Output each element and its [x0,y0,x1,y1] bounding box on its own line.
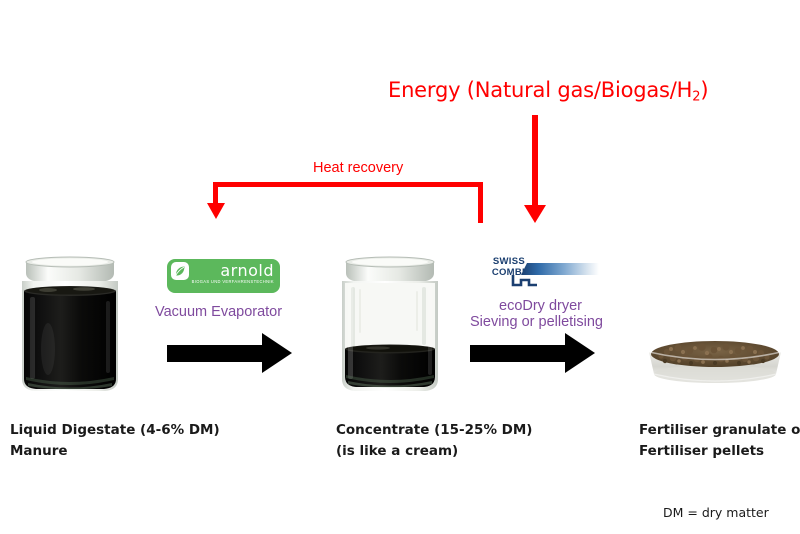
caption-1-line-2: Manure [10,441,220,462]
petri-dish-of-granules-image [645,330,785,392]
caption-fertiliser: Fertiliser granulate or Fertiliser pelle… [639,420,800,462]
leaf-icon [174,265,186,277]
diagram-canvas: Energy (Natural gas/Biogas/H2) Heat reco… [0,0,800,534]
ecodry-dryer-label: ecoDry dryer [499,298,582,314]
heat-recovery-right-riser [478,182,483,223]
caption-1-line-1: Liquid Digestate (4-6% DM) [10,420,220,441]
caption-2-line-1: Concentrate (15-25% DM) [336,420,532,441]
caption-2-line-2: (is like a cream) [336,441,532,462]
jar-of-concentrate-image [338,253,442,393]
arnold-logo-subtitle: BIOGAS UND VERFAHRENSTECHNIK [173,279,274,286]
heat-recovery-label: Heat recovery [313,160,403,176]
process-arrow-1-head-icon [262,333,292,373]
vacuum-evaporator-label: Vacuum Evaporator [155,304,282,320]
jar-of-liquid-digestate-image [18,253,122,393]
energy-input-title: Energy (Natural gas/Biogas/H2) [388,78,708,104]
process-arrow-2-shaft [470,345,566,362]
heat-recovery-horizontal-line [213,182,483,187]
heat-recovery-arrow-head-icon [207,203,225,219]
energy-title-suffix: ) [700,78,708,102]
energy-title-prefix: Energy (Natural gas/Biogas/H [388,78,692,102]
energy-arrow-shaft [532,115,538,209]
caption-3-line-1: Fertiliser granulate or [639,420,800,441]
swisscombi-logo-mark [463,255,599,295]
caption-concentrate: Concentrate (15-25% DM) (is like a cream… [336,420,532,462]
footnote-dm-definition: DM = dry matter [663,505,769,520]
energy-arrow-head-icon [524,205,546,223]
caption-liquid-digestate: Liquid Digestate (4-6% DM) Manure [10,420,220,462]
sieving-pelletising-label: Sieving or pelletising [470,314,603,330]
process-arrow-2-head-icon [565,333,595,373]
process-arrow-1-shaft [167,345,263,362]
caption-3-line-2: Fertiliser pellets [639,441,800,462]
